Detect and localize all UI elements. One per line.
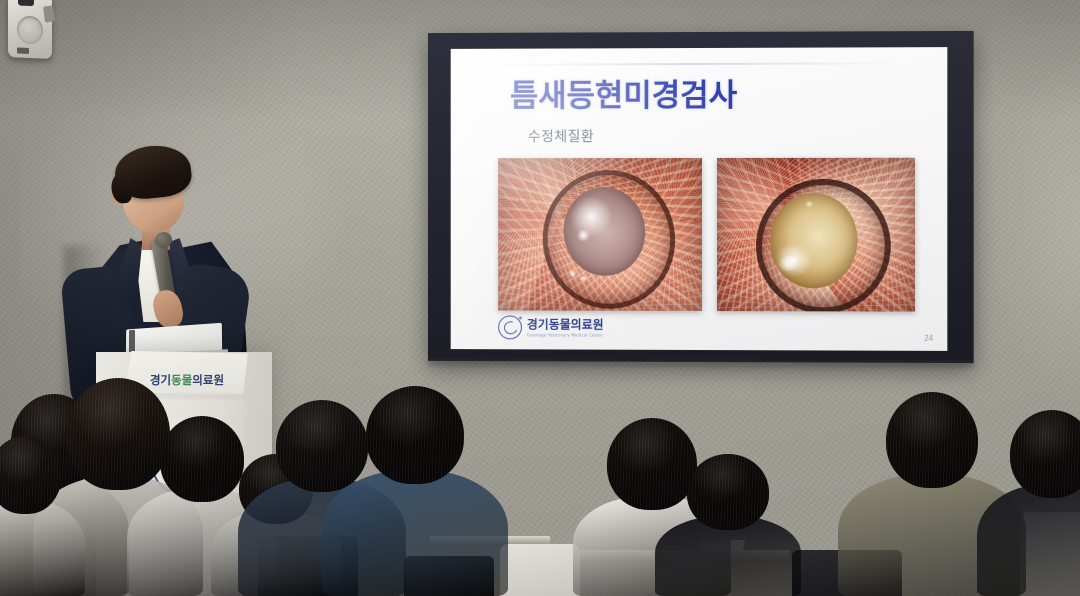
audience-member-head — [687, 454, 769, 530]
audience-member-torso — [322, 470, 508, 596]
pa-speaker-badge — [17, 47, 29, 54]
audience-member-11 — [0, 422, 68, 596]
clinic-logo-text: 경기동물의료원 — [527, 319, 604, 332]
audience-member-hair-texture — [1010, 410, 1080, 498]
audience-people — [0, 336, 1080, 596]
audience-member-hair-texture — [886, 392, 978, 488]
audience-member-head — [1010, 410, 1080, 498]
pa-speaker-grille — [17, 15, 43, 44]
presentation-slide: 틈새등현미경검사 수정체질환 — [451, 47, 948, 351]
eye-specular-highlight — [804, 201, 814, 207]
projection-screen: 틈새등현미경검사 수정체질환 — [428, 31, 974, 363]
slide-subtitle: 수정체질환 — [528, 126, 594, 146]
presentation-photo: 틈새등현미경검사 수정체질환 — [0, 0, 1080, 596]
audience-member-hair-texture — [687, 454, 769, 530]
clinic-logo-dot-icon — [519, 316, 522, 319]
slide-image-right-eye — [717, 158, 915, 312]
audience-member-head — [0, 436, 61, 514]
slide-image-left-eye — [498, 158, 702, 311]
audience-member-hair-texture — [366, 386, 464, 484]
audience-member-head — [366, 386, 464, 484]
slide-title-rule — [478, 62, 897, 65]
eye-specular-highlight — [575, 230, 591, 241]
eye-specular-highlight — [776, 256, 800, 271]
slide-title: 틈새등현미경검사 — [510, 70, 737, 115]
audience-member-head — [886, 392, 978, 488]
audience-member-8 — [676, 440, 780, 596]
audience-member-6 — [352, 372, 478, 596]
audience-member-10 — [1000, 396, 1080, 596]
pa-speaker-mount — [43, 5, 55, 22]
pa-speaker-tweeter — [18, 0, 34, 6]
audience-member-hair-texture — [0, 436, 61, 514]
